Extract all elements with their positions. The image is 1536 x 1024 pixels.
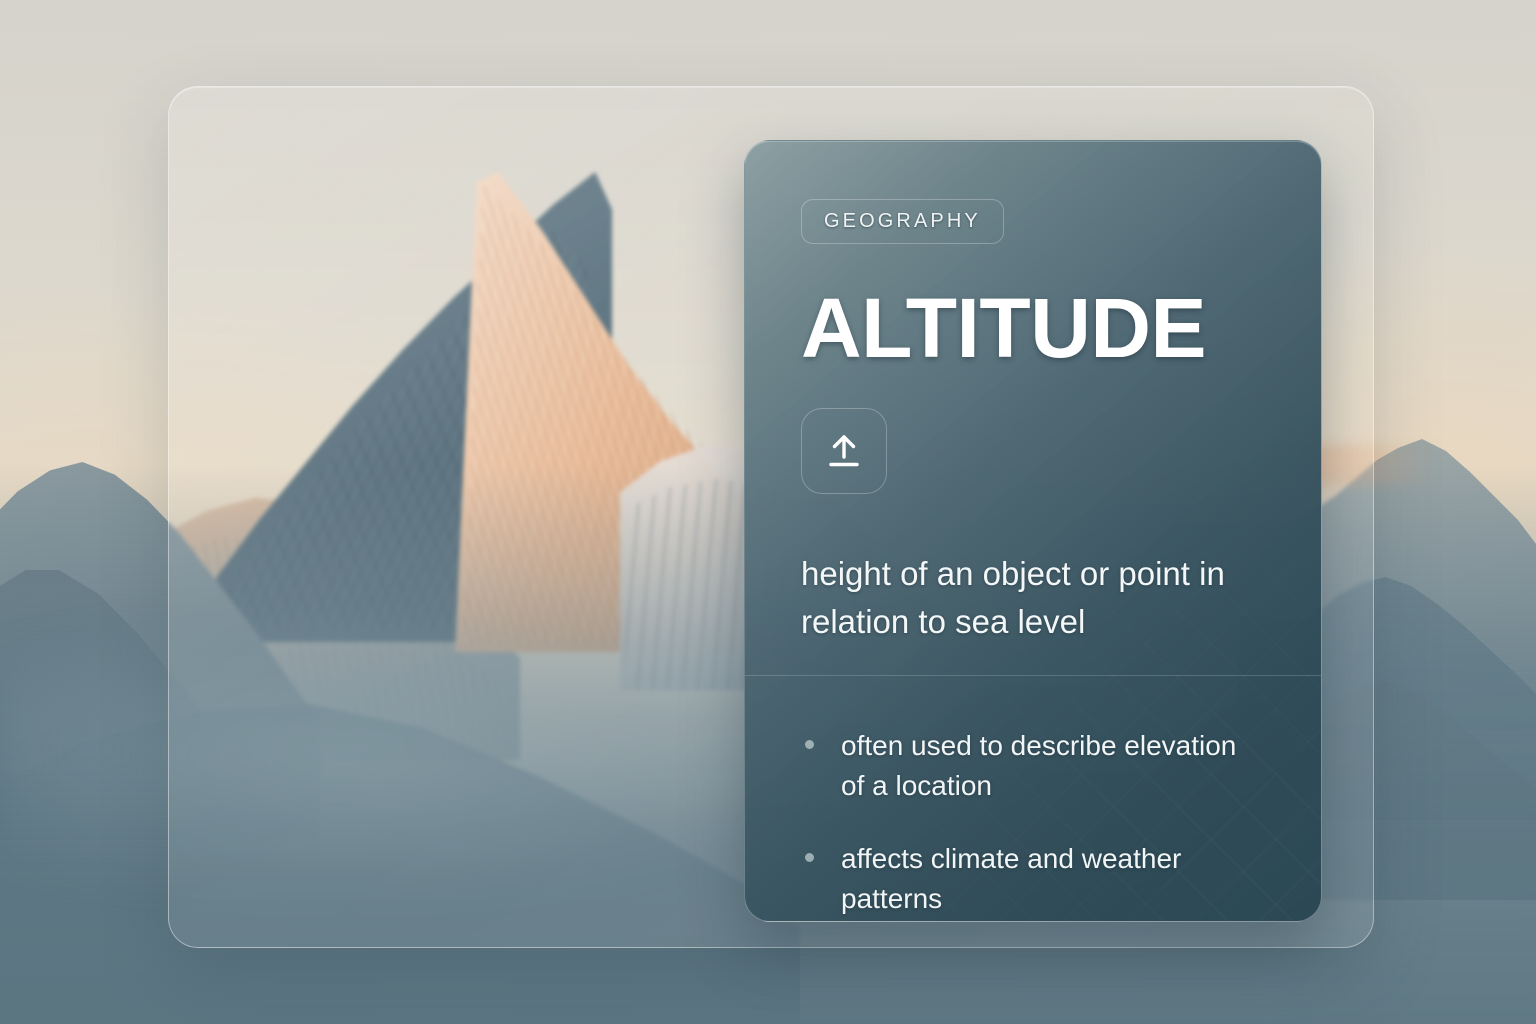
fact-text: often used to describe elevation of a lo… bbox=[841, 730, 1236, 802]
arrow-up-from-line-icon bbox=[801, 408, 887, 494]
category-badge[interactable]: GEOGRAPHY bbox=[801, 199, 1004, 244]
list-item: often used to describe elevation of a lo… bbox=[801, 726, 1265, 807]
section-divider bbox=[745, 675, 1321, 676]
card-content: GEOGRAPHY ALTITUDE height of an object o… bbox=[745, 141, 1321, 646]
list-item: affects climate and weather patterns bbox=[801, 839, 1265, 920]
screenshot-root: GEOGRAPHY ALTITUDE height of an object o… bbox=[0, 0, 1536, 1024]
term-title: ALTITUDE bbox=[801, 286, 1265, 370]
facts-list: often used to describe elevation of a lo… bbox=[801, 726, 1265, 920]
facts-section: often used to describe elevation of a lo… bbox=[745, 726, 1321, 920]
bullet-dot-icon bbox=[805, 740, 814, 749]
definition-card: GEOGRAPHY ALTITUDE height of an object o… bbox=[744, 140, 1322, 922]
fact-text: affects climate and weather patterns bbox=[841, 843, 1181, 915]
definition-text: height of an object or point in relation… bbox=[801, 550, 1265, 646]
bullet-dot-icon bbox=[805, 853, 814, 862]
